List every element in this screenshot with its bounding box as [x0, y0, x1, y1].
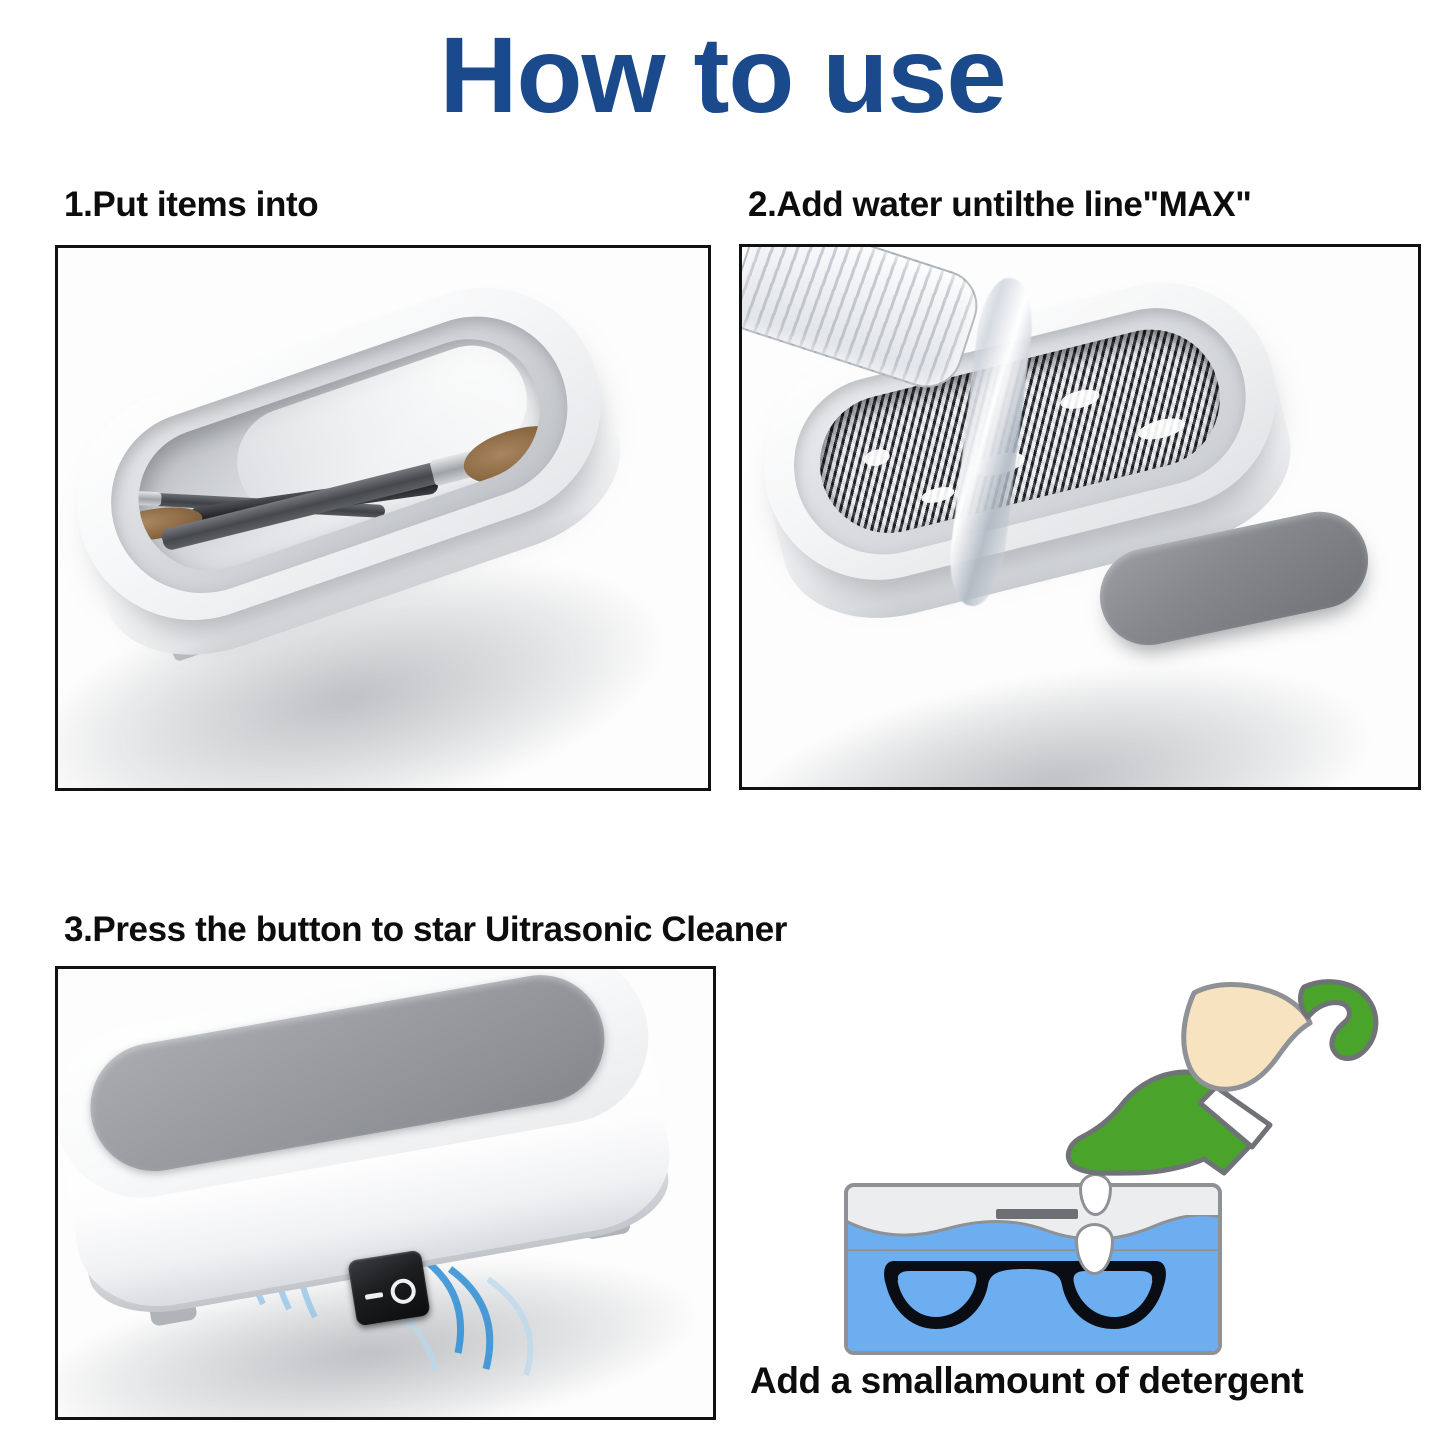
switch-off-icon: [389, 1277, 418, 1306]
step-1-caption: 1.Put items into: [64, 185, 318, 225]
step-3-image-panel: [55, 966, 716, 1420]
step-2-caption: 2.Add water untilthe line"MAX": [748, 185, 1251, 225]
power-rocker-switch[interactable]: [347, 1250, 430, 1327]
water-sparkle: [862, 447, 891, 469]
page-title: How to use: [0, 16, 1445, 135]
step-1-photo: [58, 248, 708, 788]
step-3-photo: [58, 969, 713, 1417]
step-3-caption: 3.Press the button to star Uitrasonic Cl…: [64, 910, 787, 950]
water-sparkle: [1058, 386, 1101, 412]
water-sparkle: [920, 484, 956, 506]
step-4-illustration: [836, 975, 1408, 1355]
step-2-photo: [742, 247, 1418, 787]
step-1-image-panel: [55, 245, 711, 791]
step-2-image-panel: [739, 244, 1421, 790]
switch-on-icon: [365, 1292, 384, 1300]
water-sparkle: [1136, 414, 1187, 443]
eyeglasses: [880, 1243, 1170, 1335]
step-4-caption: Add a smallamount of detergent: [750, 1360, 1303, 1402]
hand: [1154, 975, 1384, 1155]
